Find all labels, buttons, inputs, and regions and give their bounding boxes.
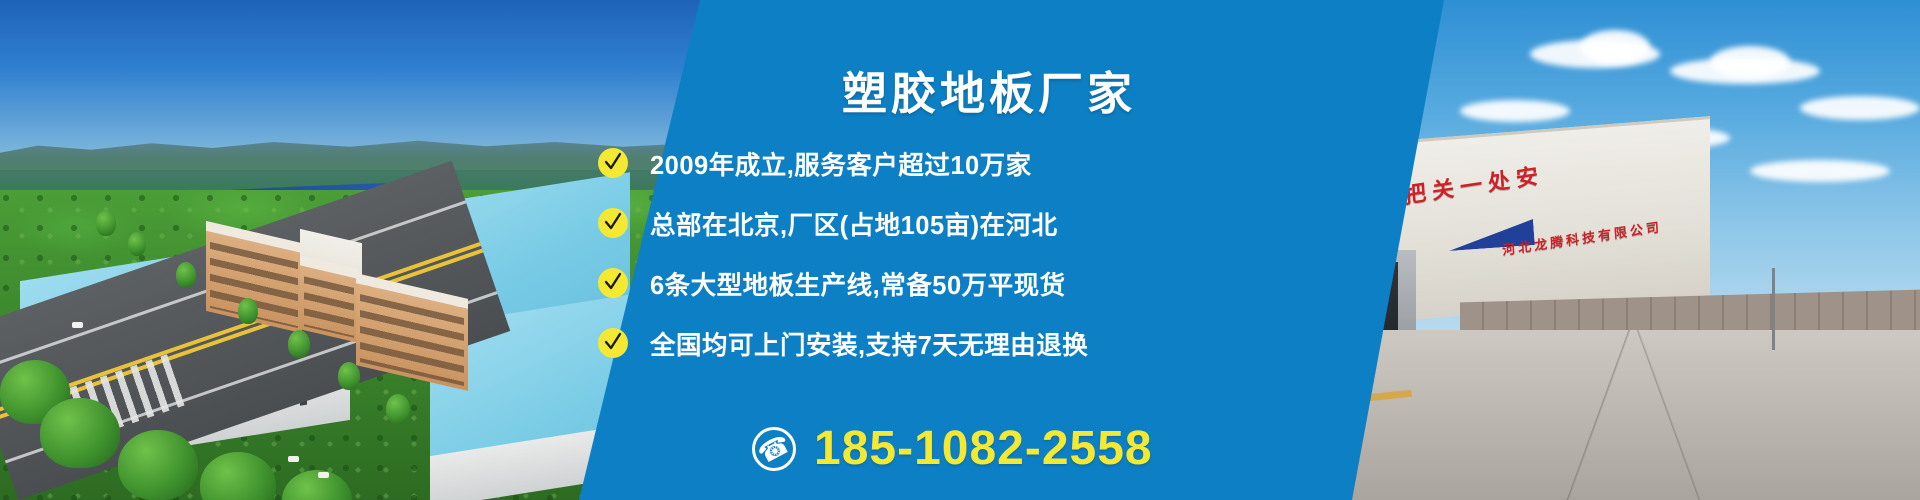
check-circle-icon <box>598 208 628 238</box>
feature-list: 2009年成立,服务客户超过10万家 总部在北京,厂区(占地105亩)在河北 6… <box>598 133 1338 373</box>
phone-number[interactable]: 185-1082-2558 <box>814 421 1153 476</box>
promo-banner: 一人把关一处安 河北龙腾科技有限公司 塑胶地板厂家 2009年成立,服务客户超过… <box>0 0 1920 500</box>
panel-content: 塑胶地板厂家 2009年成立,服务客户超过10万家 总部在北京,厂区(占地105… <box>0 0 1920 500</box>
list-item: 全国均可上门安装,支持7天无理由退换 <box>598 313 1338 373</box>
check-circle-icon <box>598 328 628 358</box>
phone-icon: ☎ <box>752 427 796 471</box>
list-item: 总部在北京,厂区(占地105亩)在河北 <box>598 193 1338 253</box>
page-title: 塑胶地板厂家 <box>0 57 1920 122</box>
list-item-label: 总部在北京,厂区(占地105亩)在河北 <box>650 205 1058 242</box>
contact-phone[interactable]: ☎ 185-1082-2558 <box>752 421 1153 476</box>
list-item: 6条大型地板生产线,常备50万平现货 <box>598 253 1338 313</box>
list-item: 2009年成立,服务客户超过10万家 <box>598 133 1338 193</box>
check-circle-icon <box>598 268 628 298</box>
check-circle-icon <box>598 148 628 178</box>
list-item-label: 2009年成立,服务客户超过10万家 <box>650 145 1032 182</box>
list-item-label: 全国均可上门安装,支持7天无理由退换 <box>650 325 1088 362</box>
list-item-label: 6条大型地板生产线,常备50万平现货 <box>650 265 1066 302</box>
